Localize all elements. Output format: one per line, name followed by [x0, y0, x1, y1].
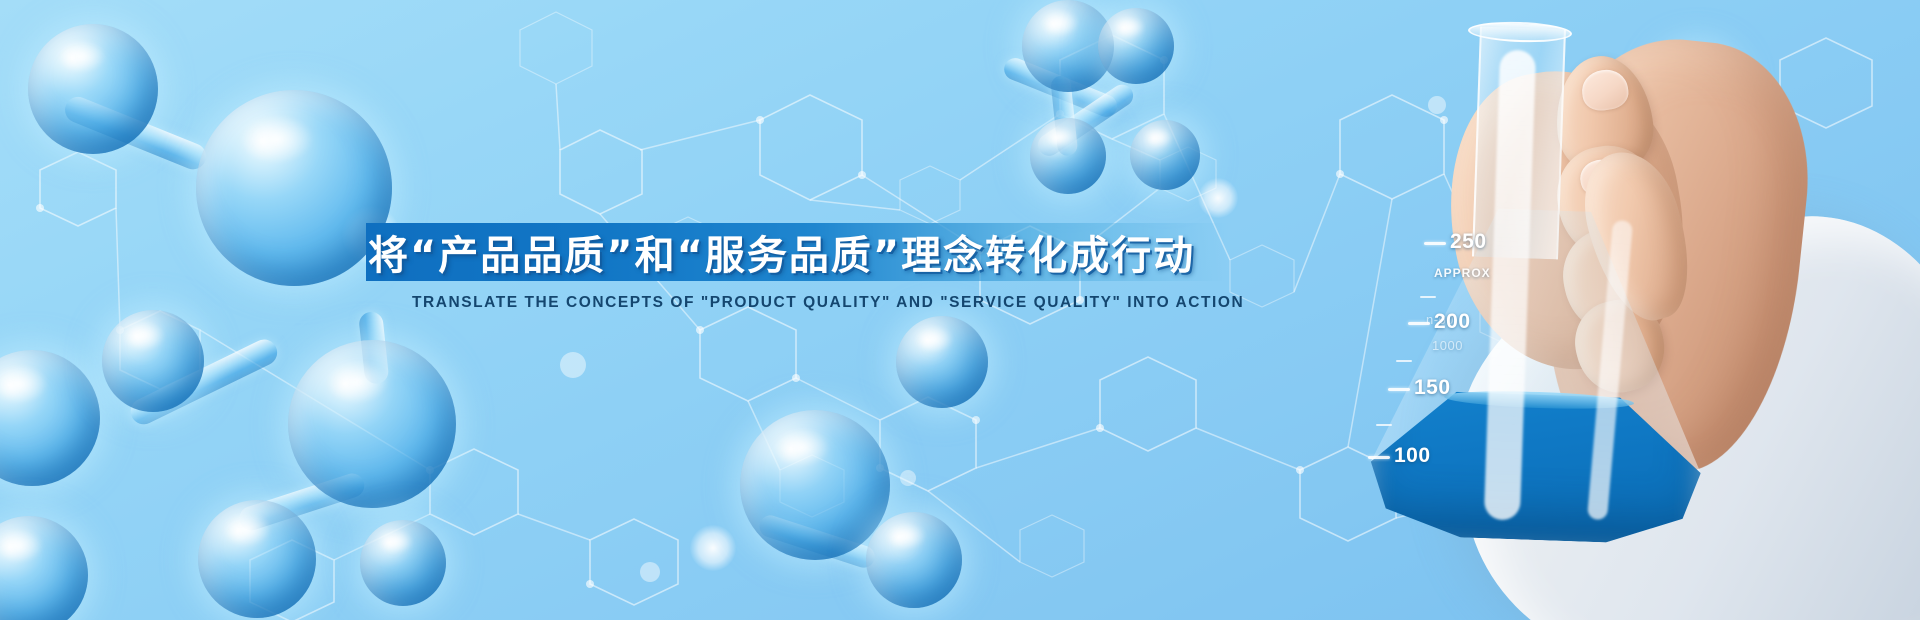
page-subtitle: TRANSLATE THE CONCEPTS OF "PRODUCT QUALI…: [412, 294, 1512, 312]
page-title: 将“产品品质”和“服务品质”理念转化成行动: [368, 222, 1368, 282]
banner-hero: 250 APPROX n-60 200 1000 150 100 将“产品品质”…: [0, 0, 1920, 620]
copy-block: 将“产品品质”和“服务品质”理念转化成行动 TRANSLATE THE CONC…: [0, 0, 1920, 620]
